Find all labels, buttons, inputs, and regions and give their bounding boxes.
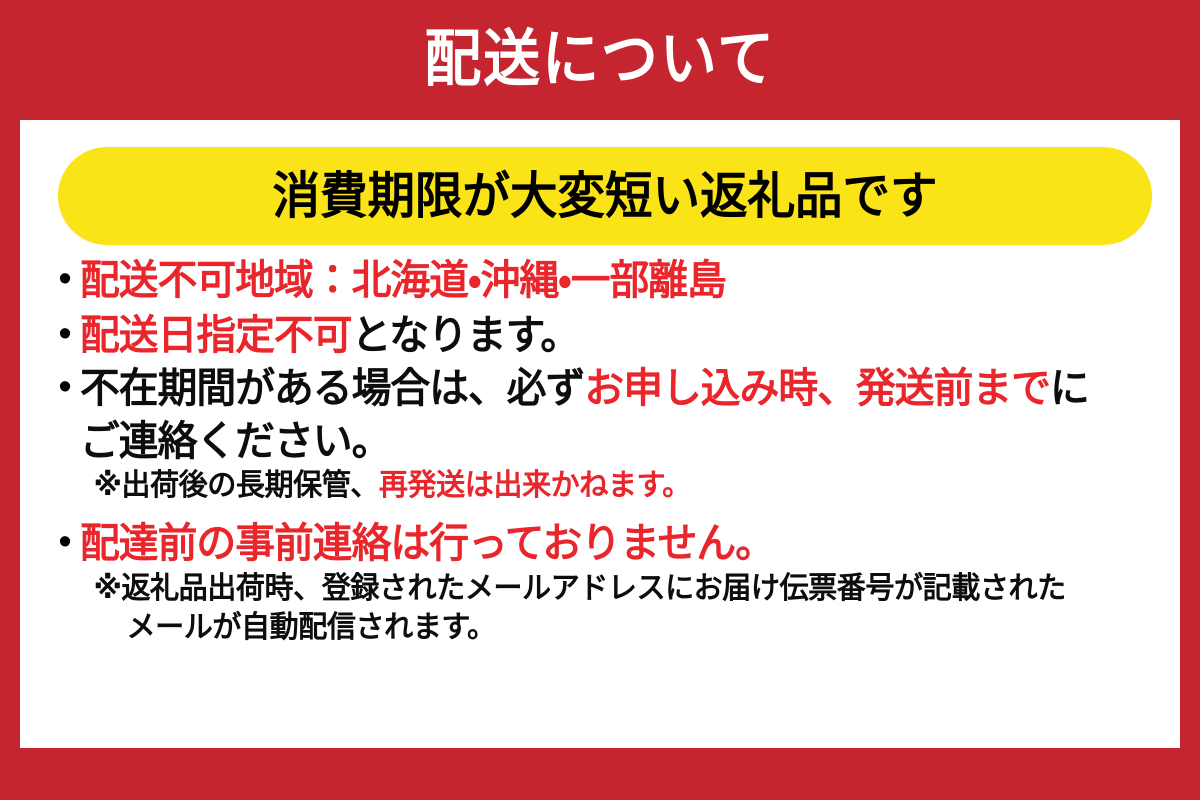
subnote-text-black: メールが自動配信されます。 (127, 611, 496, 644)
list-item: • 配送不可地域：北海道・沖縄・一部離島 (50, 260, 1160, 301)
notice-text-black: となります。 (352, 312, 580, 358)
highlight-banner: 消費期限が大変短い返礼品です (58, 147, 1152, 245)
bullet-marker: • (50, 260, 80, 298)
notice-list: • 配送不可地域：北海道・沖縄・一部離島 • 配送日指定不可となります。 (50, 260, 1160, 643)
notice-line: 配達前の事前連絡は行っておりません。 (80, 523, 1128, 564)
title-band: 配送について (0, 0, 1200, 120)
bullet-marker: • (50, 523, 80, 561)
notice-text-black: 不在期間がある場合は、必ず (80, 365, 584, 411)
notice-text-red: 配達前の事前連絡は行っておりません。 (80, 520, 774, 566)
list-item: • 不在期間がある場合は、必ずお申し込み時、発送前までに ご連絡ください。 ※出… (50, 368, 1160, 501)
content-panel: 消費期限が大変短い返礼品です • 配送不可地域：北海道・沖縄・一部離島 • 配 (20, 120, 1180, 748)
subnote-text-red: 再発送は出来かねます。 (379, 469, 691, 502)
page-title: 配送について (424, 29, 776, 91)
list-item-body: 配送日指定不可となります。 (80, 315, 1160, 356)
subnote-text-black: ※出荷後の長期保管、 (94, 469, 379, 502)
delivery-notice-graphic: 配送について 消費期限が大変短い返礼品です • 配送不可地域：北海道・沖縄・一部… (0, 0, 1200, 800)
notice-subnote: ※返礼品出荷時、登録されたメールアドレスにお届け伝票番号が記載された (80, 574, 1128, 604)
notice-subnote-continuation: メールが自動配信されます。 (80, 613, 1128, 643)
notice-line: 配送不可地域：北海道・沖縄・一部離島 (80, 260, 1128, 301)
notice-line: 配送日指定不可となります。 (80, 315, 1128, 356)
notice-text-black: に (1050, 365, 1089, 411)
subnote-text-black: ※返礼品出荷時、登録されたメールアドレスにお届け伝票番号が記載された (94, 572, 1066, 605)
notice-subnote: ※出荷後の長期保管、再発送は出来かねます。 (80, 471, 1128, 501)
notice-text-red: お申し込み時、発送前まで (584, 365, 1050, 411)
list-item-body: 不在期間がある場合は、必ずお申し込み時、発送前までに ご連絡ください。 ※出荷後… (80, 368, 1160, 501)
list-item-body: 配達前の事前連絡は行っておりません。 ※返礼品出荷時、登録されたメールアドレスに… (80, 523, 1160, 643)
bullet-marker: • (50, 368, 80, 406)
notice-line: 不在期間がある場合は、必ずお申し込み時、発送前までに (80, 368, 1128, 409)
highlight-banner-text: 消費期限が大変短い返礼品です (273, 171, 938, 221)
notice-text-red: 配送日指定不可 (80, 312, 352, 358)
list-item-body: 配送不可地域：北海道・沖縄・一部離島 (80, 260, 1160, 301)
bullet-marker: • (50, 315, 80, 353)
list-item: • 配送日指定不可となります。 (50, 315, 1160, 356)
notice-text-black: ご連絡ください。 (80, 418, 390, 464)
notice-text-red: 配送不可地域：北海道・沖縄・一部離島 (80, 257, 726, 303)
list-item: • 配達前の事前連絡は行っておりません。 ※返礼品出荷時、登録されたメールアドレ… (50, 523, 1160, 643)
notice-line-continuation: ご連絡ください。 (80, 421, 1128, 462)
